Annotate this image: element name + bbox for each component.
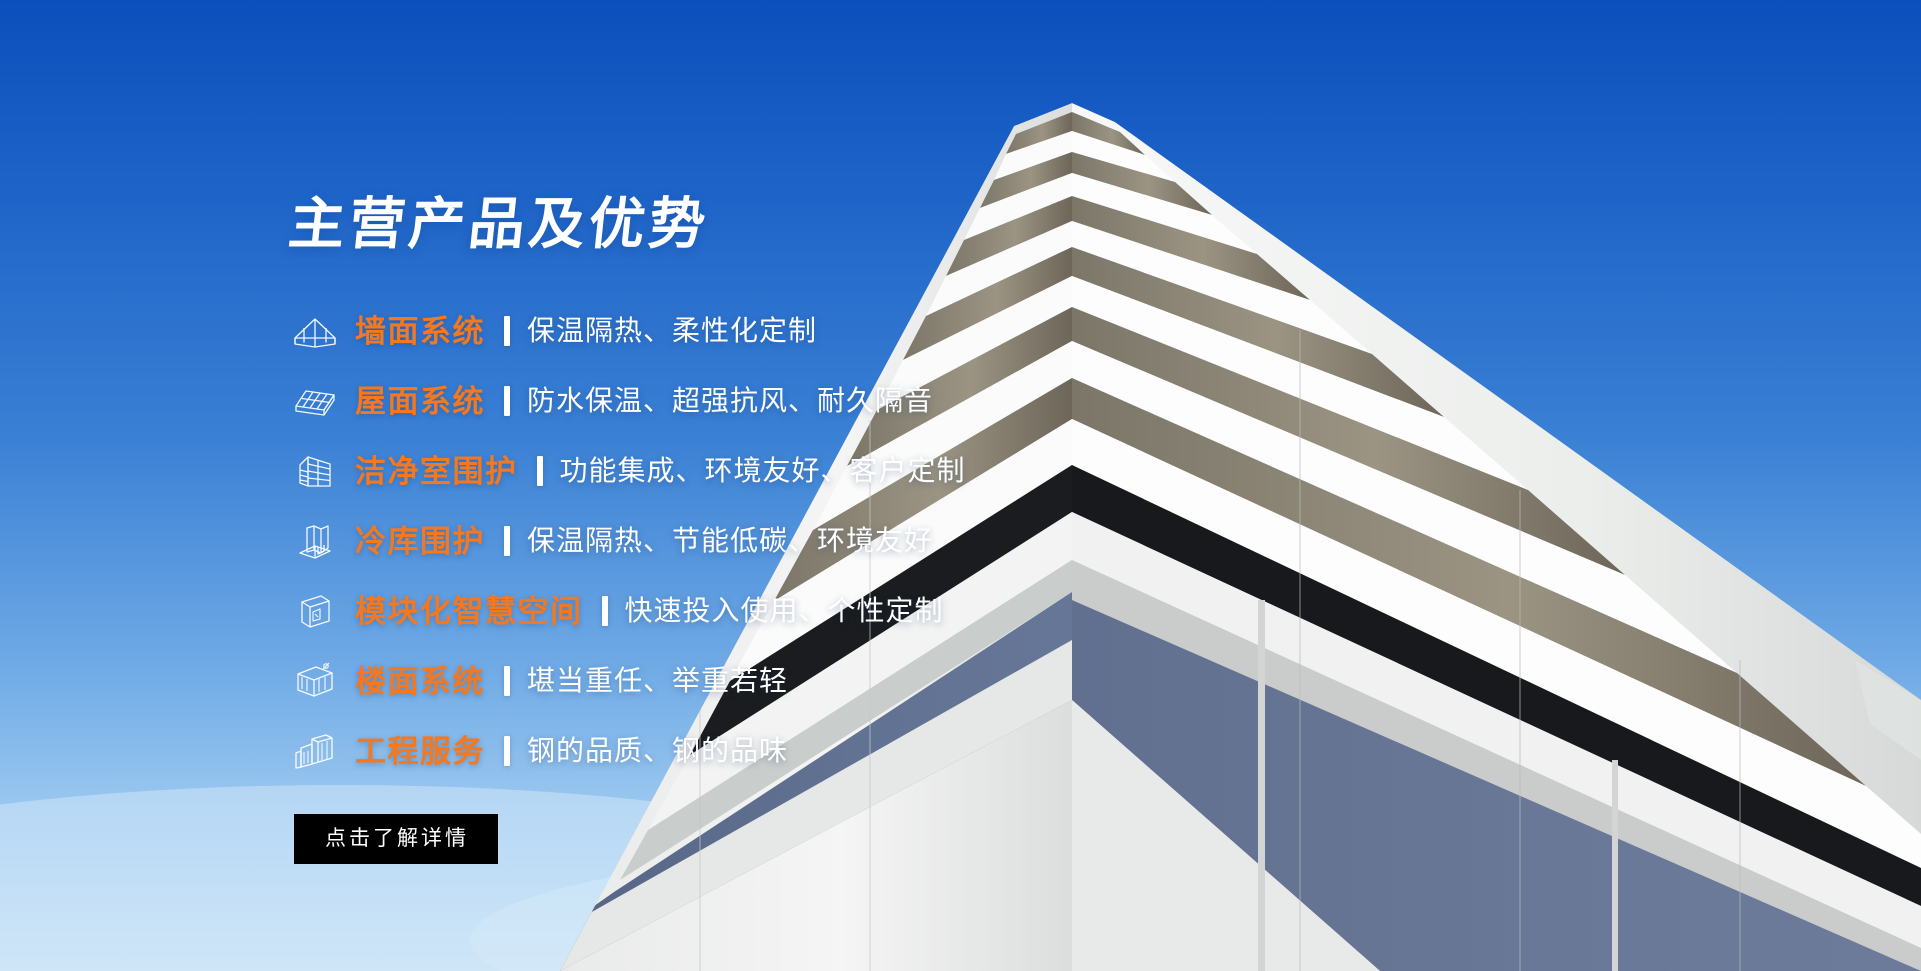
feature-separator (504, 386, 510, 416)
feature-title: 墙面系统 (355, 316, 485, 347)
feature-row-roof-system[interactable]: 屋面系统 防水保温、超强抗风、耐久隔音 (289, 366, 1249, 436)
feature-title: 模块化智慧空间 (355, 596, 583, 627)
feature-title: 洁净室围护 (355, 456, 518, 487)
feature-separator (602, 596, 608, 626)
learn-more-button[interactable]: 点击了解详情 (294, 814, 498, 864)
feature-title: 冷库围护 (355, 526, 485, 557)
cleanroom-building-icon (289, 447, 341, 495)
feature-title: 工程服务 (355, 736, 485, 767)
factory-complex-icon (289, 727, 341, 775)
feature-description: 保温隔热、柔性化定制 (527, 317, 817, 345)
feature-description: 钢的品质、钢的品味 (527, 737, 788, 765)
feature-description: 堪当重任、举重若轻 (527, 667, 788, 695)
feature-description: 功能集成、环境友好、客户定制 (560, 457, 966, 485)
banner-content: 主营产品及优势 墙面系统 保温隔热、柔性化定制 (289, 196, 1249, 864)
feature-description: 保温隔热、节能低碳、环境友好 (527, 527, 933, 555)
roof-panel-icon (289, 377, 341, 425)
wall-panel-icon (289, 307, 341, 355)
feature-list: 墙面系统 保温隔热、柔性化定制 屋面系统 (289, 296, 1249, 786)
floor-deck-icon (289, 657, 341, 705)
feature-title: 屋面系统 (355, 386, 485, 417)
feature-separator (537, 456, 543, 486)
feature-row-engineering-service[interactable]: 工程服务 钢的品质、钢的品味 (289, 716, 1249, 786)
page-title: 主营产品及优势 (286, 196, 1252, 252)
feature-row-floor-system[interactable]: 楼面系统 堪当重任、举重若轻 (289, 646, 1249, 716)
feature-separator (504, 666, 510, 696)
feature-description: 快速投入使用、个性定制 (625, 597, 944, 625)
feature-row-cleanroom[interactable]: 洁净室围护 功能集成、环境友好、客户定制 (289, 436, 1249, 506)
feature-row-cold-storage[interactable]: 冷库围护 保温隔热、节能低碳、环境友好 (289, 506, 1249, 576)
cold-storage-icon (289, 517, 341, 565)
feature-row-wall-system[interactable]: 墙面系统 保温隔热、柔性化定制 (289, 296, 1249, 366)
feature-separator (504, 316, 510, 346)
modular-cube-icon (289, 587, 341, 635)
feature-separator (504, 736, 510, 766)
feature-separator (504, 526, 510, 556)
feature-title: 楼面系统 (355, 666, 485, 697)
product-advantages-banner: 主营产品及优势 墙面系统 保温隔热、柔性化定制 (0, 0, 1921, 971)
feature-description: 防水保温、超强抗风、耐久隔音 (527, 387, 933, 415)
feature-row-modular-space[interactable]: 模块化智慧空间 快速投入使用、个性定制 (289, 576, 1249, 646)
